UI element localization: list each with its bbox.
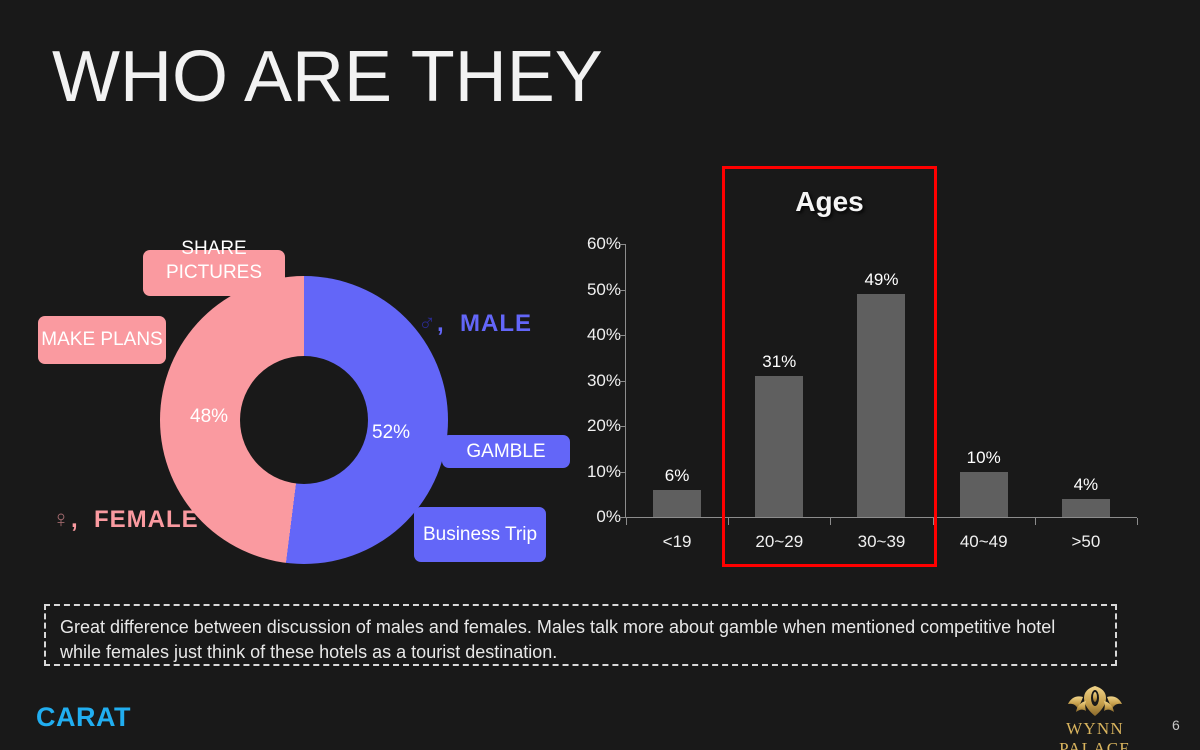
donut-value-male: 52% xyxy=(372,422,410,444)
slide: WHO ARE THEY 48% 52% ♂, MALE ♀, FEMALE S… xyxy=(0,0,1200,750)
bar-slot: 6% xyxy=(626,244,728,517)
y-tick-label: 10% xyxy=(565,462,621,482)
female-symbol-icon: ♀ xyxy=(52,506,71,533)
x-tick-mark xyxy=(626,518,627,525)
keyword-pill-gamble: GAMBLE xyxy=(442,435,570,468)
bar-value-label: 4% xyxy=(1074,475,1099,495)
keyword-pill-make-plans: MAKE PLANS xyxy=(38,316,166,364)
y-tick-mark xyxy=(619,381,626,382)
bar-slot: 31% xyxy=(728,244,830,517)
page-number: 6 xyxy=(1172,717,1180,733)
keyword-label: SHARE PICTURES xyxy=(143,237,285,285)
y-tick-mark xyxy=(619,472,626,473)
bar-value-label: 10% xyxy=(967,448,1001,468)
y-tick-label: 40% xyxy=(565,325,621,345)
x-axis-line xyxy=(625,517,1137,518)
bar-slot: 4% xyxy=(1035,244,1137,517)
x-axis-label: 20~29 xyxy=(728,532,830,552)
wynn-palace-logo: WYNN PALACE COTAI xyxy=(1030,684,1160,750)
legend-female-label: FEMALE xyxy=(94,506,199,533)
keyword-pill-share-pictures: SHARE PICTURES xyxy=(143,250,285,296)
y-tick-label: 20% xyxy=(565,416,621,436)
keyword-label: Business Trip xyxy=(423,523,537,547)
x-tick-mark xyxy=(728,518,729,525)
legend-male-label: MALE xyxy=(460,310,532,337)
caption-box: Great difference between discussion of m… xyxy=(44,604,1117,666)
bar xyxy=(653,490,701,517)
chart-title: Ages xyxy=(722,186,937,218)
legend-male: ♂, MALE xyxy=(418,310,532,338)
donut-value-female: 48% xyxy=(190,406,228,428)
y-tick-mark xyxy=(619,244,626,245)
page-title: WHO ARE THEY xyxy=(52,36,603,118)
y-tick-label: 0% xyxy=(565,507,621,527)
donut-hole xyxy=(240,356,368,484)
keyword-label: MAKE PLANS xyxy=(41,328,162,352)
y-tick-mark xyxy=(619,290,626,291)
x-axis-label: >50 xyxy=(1035,532,1137,552)
ages-bar-chart: 0%10%20%30%40%50%60% 6%31%49%10%4% <1920… xyxy=(565,238,1145,558)
carat-logo: CARAT xyxy=(36,702,131,733)
male-symbol-icon: ♂ xyxy=(418,310,437,337)
bar-plot-area: 6%31%49%10%4% xyxy=(626,244,1137,517)
bar-value-label: 49% xyxy=(864,270,898,290)
y-tick-label: 30% xyxy=(565,371,621,391)
y-axis-labels: 0%10%20%30%40%50%60% xyxy=(565,238,621,518)
bar xyxy=(857,294,905,517)
wynn-palace-name: WYNN PALACE xyxy=(1030,719,1160,750)
keyword-label: GAMBLE xyxy=(466,440,545,464)
x-tick-mark xyxy=(1035,518,1036,525)
x-tick-mark xyxy=(933,518,934,525)
bar-slot: 49% xyxy=(830,244,932,517)
wynn-crest-icon xyxy=(1064,684,1126,718)
x-tick-mark xyxy=(1137,518,1138,525)
y-tick-label: 60% xyxy=(565,234,621,254)
x-axis-label: 30~39 xyxy=(830,532,932,552)
y-tick-label: 50% xyxy=(565,280,621,300)
gender-donut-chart: 48% 52% xyxy=(160,276,448,564)
y-tick-mark xyxy=(619,426,626,427)
bar-slot: 10% xyxy=(933,244,1035,517)
y-tick-mark xyxy=(619,517,626,518)
x-axis-label: 40~49 xyxy=(933,532,1035,552)
bar-value-label: 31% xyxy=(762,352,796,372)
bar xyxy=(960,472,1008,518)
bar xyxy=(1062,499,1110,517)
legend-female: ♀, FEMALE xyxy=(52,506,199,534)
bar-value-label: 6% xyxy=(665,466,690,486)
x-axis-label: <19 xyxy=(626,532,728,552)
x-tick-mark xyxy=(830,518,831,525)
y-tick-mark xyxy=(619,335,626,336)
bar xyxy=(755,376,803,517)
keyword-pill-business-trip: Business Trip xyxy=(414,507,546,562)
